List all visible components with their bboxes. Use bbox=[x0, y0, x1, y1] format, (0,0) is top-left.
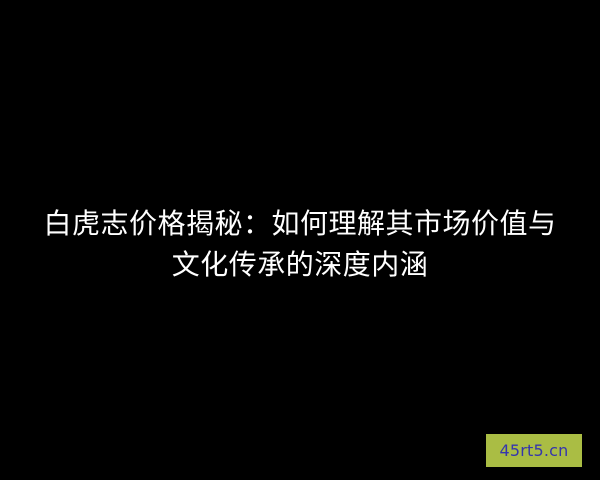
cover-image-canvas: 白虎志价格揭秘：如何理解其市场价值与 文化传承的深度内涵 45rt5.cn bbox=[0, 0, 600, 480]
watermark-badge: 45rt5.cn bbox=[486, 434, 582, 467]
watermark-label: 45rt5.cn bbox=[499, 443, 568, 459]
background-gradient bbox=[0, 0, 600, 480]
